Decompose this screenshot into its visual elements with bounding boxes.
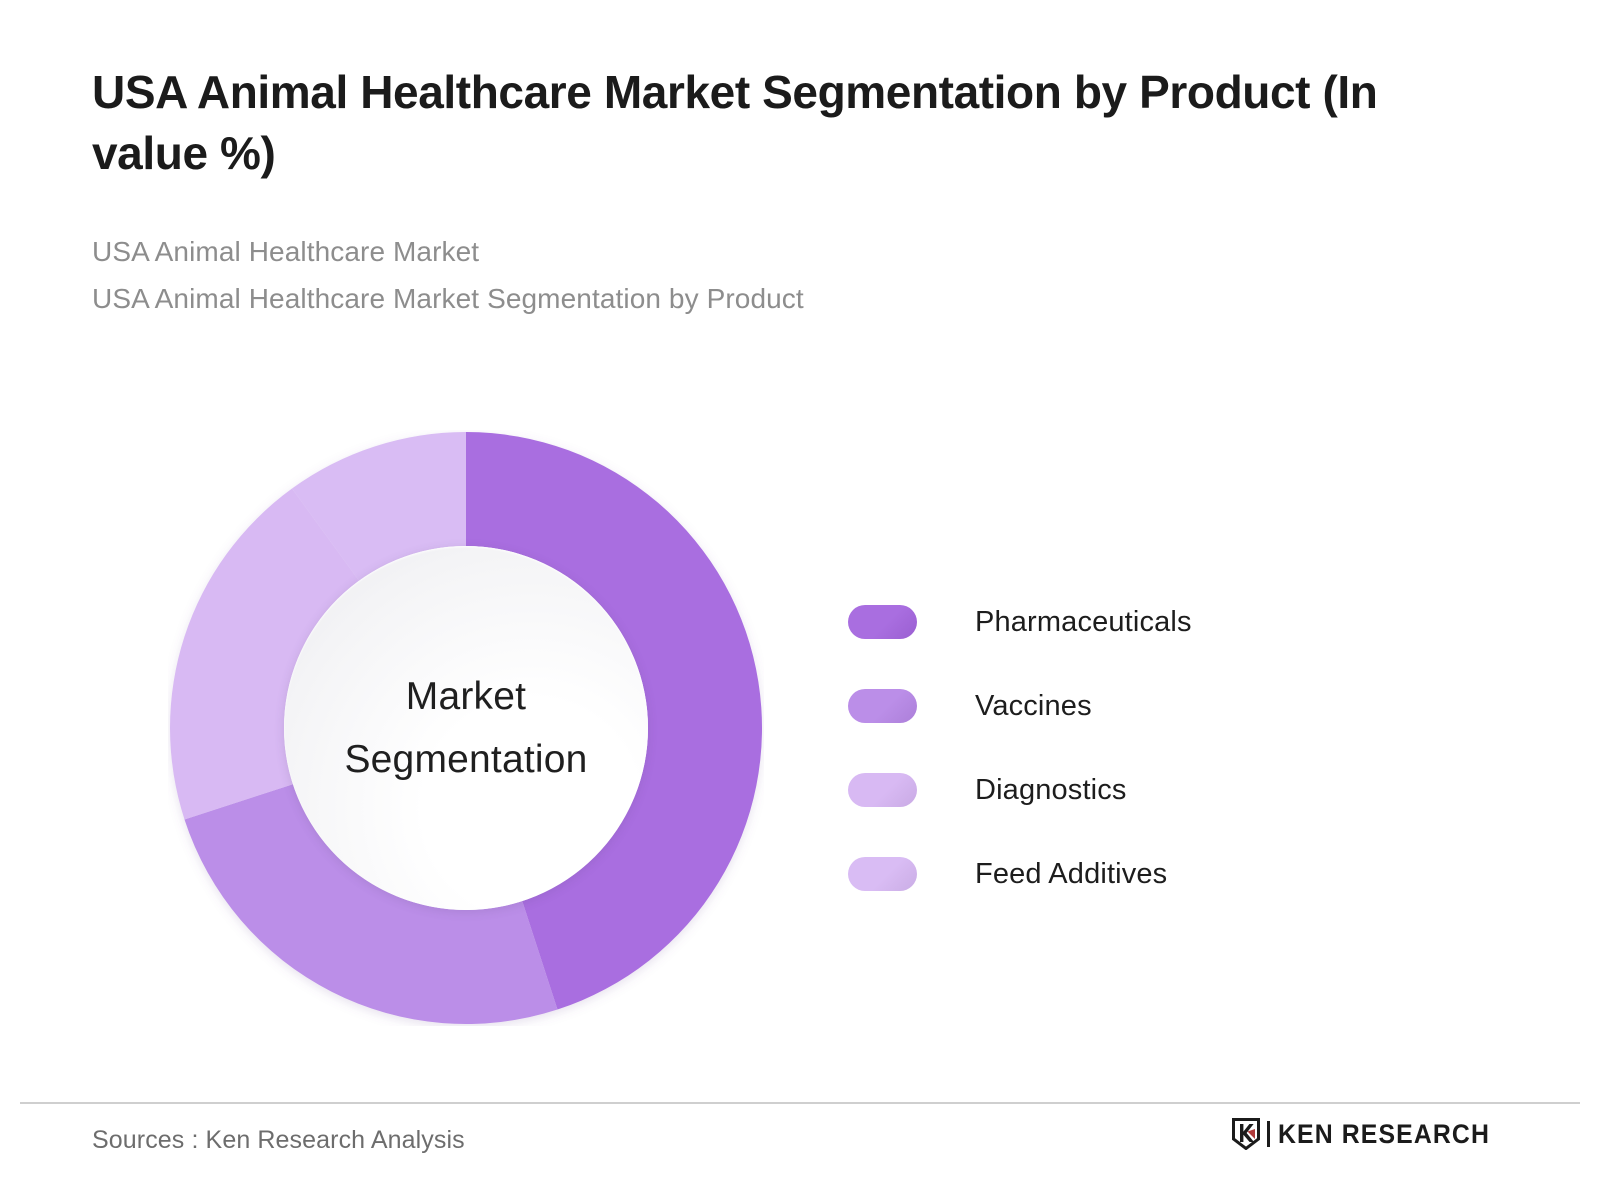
subtitle-segmentation: USA Animal Healthcare Market Segmentatio… [92,276,1512,322]
legend-swatch-icon [848,857,917,891]
legend-item[interactable]: Pharmaceuticals [848,580,1192,664]
chart-area: Market Segmentation PharmaceuticalsVacci… [0,400,1600,1060]
legend-swatch-icon [848,689,917,723]
header: USA Animal Healthcare Market Segmentatio… [92,62,1512,322]
logo-divider [1267,1121,1270,1147]
legend-label: Feed Additives [975,858,1167,891]
center-label-line-1: Market [406,665,526,728]
legend-label: Diagnostics [975,774,1127,807]
subtitle-market: USA Animal Healthcare Market [92,229,1512,275]
legend-swatch-icon [848,605,917,639]
donut-center-label: Market Segmentation [284,546,648,910]
ken-shield-icon [1232,1118,1260,1150]
page-title: USA Animal Healthcare Market Segmentatio… [92,62,1492,183]
chart-legend: PharmaceuticalsVaccinesDiagnosticsFeed A… [848,580,1192,916]
legend-item[interactable]: Feed Additives [848,832,1192,916]
brand-name: KEN RESEARCH [1278,1119,1490,1150]
slide-canvas: USA Animal Healthcare Market Segmentatio… [0,0,1600,1200]
center-label-line-2: Segmentation [344,728,587,791]
footer-divider [20,1102,1580,1104]
legend-swatch-icon [848,773,917,807]
subtitle-group: USA Animal Healthcare Market USA Animal … [92,229,1512,322]
sources-text: Sources : Ken Research Analysis [92,1126,465,1155]
donut-chart: Market Segmentation [168,430,764,1026]
legend-label: Pharmaceuticals [975,606,1192,639]
legend-label: Vaccines [975,690,1092,723]
ken-research-logo: KEN RESEARCH [1232,1118,1508,1150]
legend-item[interactable]: Diagnostics [848,748,1192,832]
legend-item[interactable]: Vaccines [848,664,1192,748]
